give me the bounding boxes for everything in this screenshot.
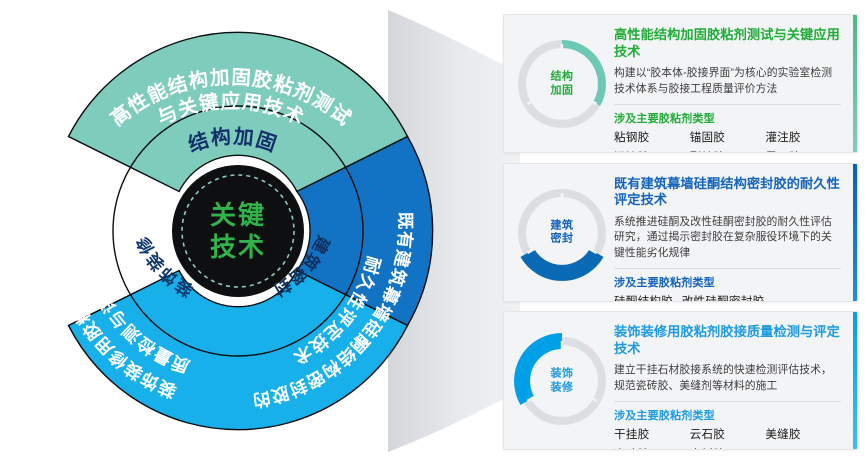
tag-item: 改性硅酮密封胶 xyxy=(682,294,773,301)
donut-icon-decoration: 装饰 装修 xyxy=(510,321,614,441)
tag-item: 锚固胶 xyxy=(690,130,766,146)
card-tag-grid-decoration: 干挂胶 云石胶 美缝胶 瓷砖胶 岩板胶 xyxy=(614,427,841,450)
card-subhead-structural: 涉及主要胶粘剂类型 xyxy=(614,110,841,126)
tag-item xyxy=(765,447,841,450)
tag-item xyxy=(773,294,841,301)
tag-item: 岩板胶 xyxy=(690,447,766,450)
card-desc-sealing: 系统推进硅酮及改性硅酮密封胶的耐久性评估研究，通过揭示密封胶在复杂服役环境下的关… xyxy=(614,215,841,262)
donut-label-line1: 装饰 xyxy=(510,367,614,381)
tag-item: 干挂胶 xyxy=(614,427,690,443)
card-subhead-sealing: 涉及主要胶粘剂类型 xyxy=(614,274,841,290)
tag-item: 裂缝胶 xyxy=(690,150,766,153)
tag-item: 云石胶 xyxy=(690,427,766,443)
card-title-sealing: 既有建筑幕墙硅酮结构密封胶的耐久性评定技术 xyxy=(614,176,841,209)
donut-label-line1: 建筑 xyxy=(510,219,614,233)
donut-icon-sealing: 建筑 密封 xyxy=(510,173,614,293)
tag-item: 浸渍胶 xyxy=(614,150,690,153)
card-subhead-decoration: 涉及主要胶粘剂类型 xyxy=(614,407,841,423)
card-title-decoration: 装饰装修用胶粘剂胶接质量检测与评定技术 xyxy=(614,324,841,357)
card-decoration[interactable]: 装饰 装修 装饰装修用胶粘剂胶接质量检测与评定技术 建立干挂石材胶接系统的快速检… xyxy=(503,311,858,450)
circular-diagram: 高性能结构加固胶粘剂测试 与关键应用技术 既有建筑幕墙硅酮结构密封胶的 耐久性评… xyxy=(8,6,468,456)
donut-label-line2: 密封 xyxy=(510,233,614,247)
card-structural[interactable]: 结构 加固 高性能结构加固胶粘剂测试与关键应用技术 构建以“胶本体-胶接界面”为… xyxy=(503,14,858,153)
donut-label-line2: 装修 xyxy=(510,381,614,395)
donut-icon-structural: 结构 加固 xyxy=(510,24,614,144)
card-accent-bar-structural xyxy=(853,15,857,152)
card-tag-grid-structural: 粘钢胶 锚固胶 灌注胶 浸渍胶 裂缝胶 界面胶 xyxy=(614,130,841,153)
wheel-center-line2: 技术 xyxy=(210,232,266,262)
wheel-center-line1: 关键 xyxy=(210,200,266,230)
card-divider xyxy=(614,104,841,105)
card-desc-structural: 构建以“胶本体-胶接界面”为核心的实验室检测技术体系与胶接工程质量评价方法 xyxy=(614,66,841,97)
donut-label-line1: 结构 xyxy=(510,70,614,84)
donut-label-line2: 加固 xyxy=(510,84,614,98)
tag-item: 灌注胶 xyxy=(765,130,841,146)
tag-item: 界面胶 xyxy=(765,150,841,153)
card-accent-bar-sealing xyxy=(853,164,857,301)
tag-item: 粘钢胶 xyxy=(614,130,690,146)
tag-item: 美缝胶 xyxy=(765,427,841,443)
card-tag-grid-sealing: 硅酮结构胶 改性硅酮密封胶 硅酮密封胶 xyxy=(614,294,841,301)
tag-item: 硅酮结构胶 xyxy=(614,294,682,301)
card-title-structural: 高性能结构加固胶粘剂测试与关键应用技术 xyxy=(614,27,841,60)
card-accent-bar-decoration xyxy=(853,312,857,449)
card-divider xyxy=(614,268,841,269)
cards-panel: 结构 加固 高性能结构加固胶粘剂测试与关键应用技术 构建以“胶本体-胶接界面”为… xyxy=(503,14,858,450)
card-sealing[interactable]: 建筑 密封 既有建筑幕墙硅酮结构密封胶的耐久性评定技术 系统推进硅酮及改性硅酮密… xyxy=(503,163,858,302)
infographic-root: 高性能结构加固胶粘剂测试 与关键应用技术 既有建筑幕墙硅酮结构密封胶的 耐久性评… xyxy=(0,0,865,462)
tag-item: 瓷砖胶 xyxy=(614,447,690,450)
card-desc-decoration: 建立干挂石材胶接系统的快速检测评估技术，规范瓷砖胶、美缝剂等材料的施工 xyxy=(614,363,841,394)
card-divider xyxy=(614,401,841,402)
